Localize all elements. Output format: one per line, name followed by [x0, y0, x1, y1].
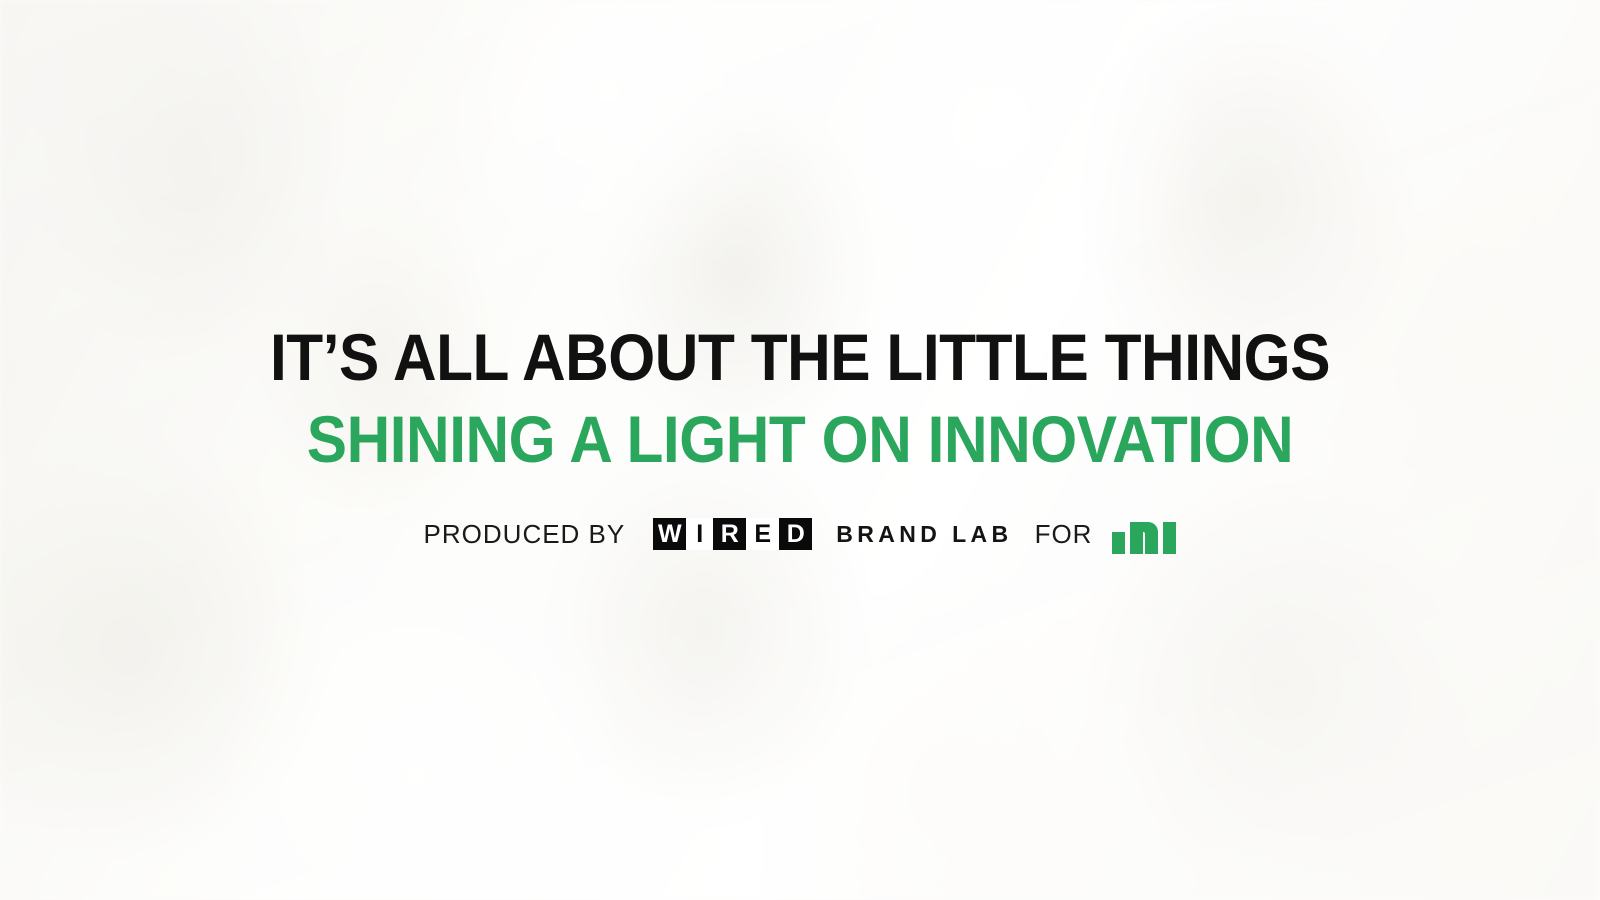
for-label: FOR — [1035, 521, 1093, 547]
title-card: IT’S ALL ABOUT THE LITTLE THINGS SHINING… — [0, 0, 1600, 900]
wired-logo: W I R E D — [653, 518, 812, 550]
title-block: IT’S ALL ABOUT THE LITTLE THINGS SHINING… — [0, 318, 1600, 554]
wired-letter-w: W — [653, 518, 686, 550]
wired-letter-d: D — [779, 518, 812, 550]
wired-letter-e: E — [746, 518, 779, 550]
wired-letter-i: I — [686, 518, 713, 550]
produced-by-label: PRODUCED BY — [424, 521, 626, 547]
credit-row: PRODUCED BY W I R E D BRAND LAB FOR — [0, 514, 1600, 554]
headline-line-2: SHINING A LIGHT ON INNOVATION — [68, 400, 1532, 478]
wired-letter-r: R — [713, 518, 746, 550]
headline-line-1: IT’S ALL ABOUT THE LITTLE THINGS — [68, 318, 1532, 396]
ni-logo — [1112, 514, 1176, 554]
brand-lab-label: BRAND LAB — [836, 523, 1012, 546]
